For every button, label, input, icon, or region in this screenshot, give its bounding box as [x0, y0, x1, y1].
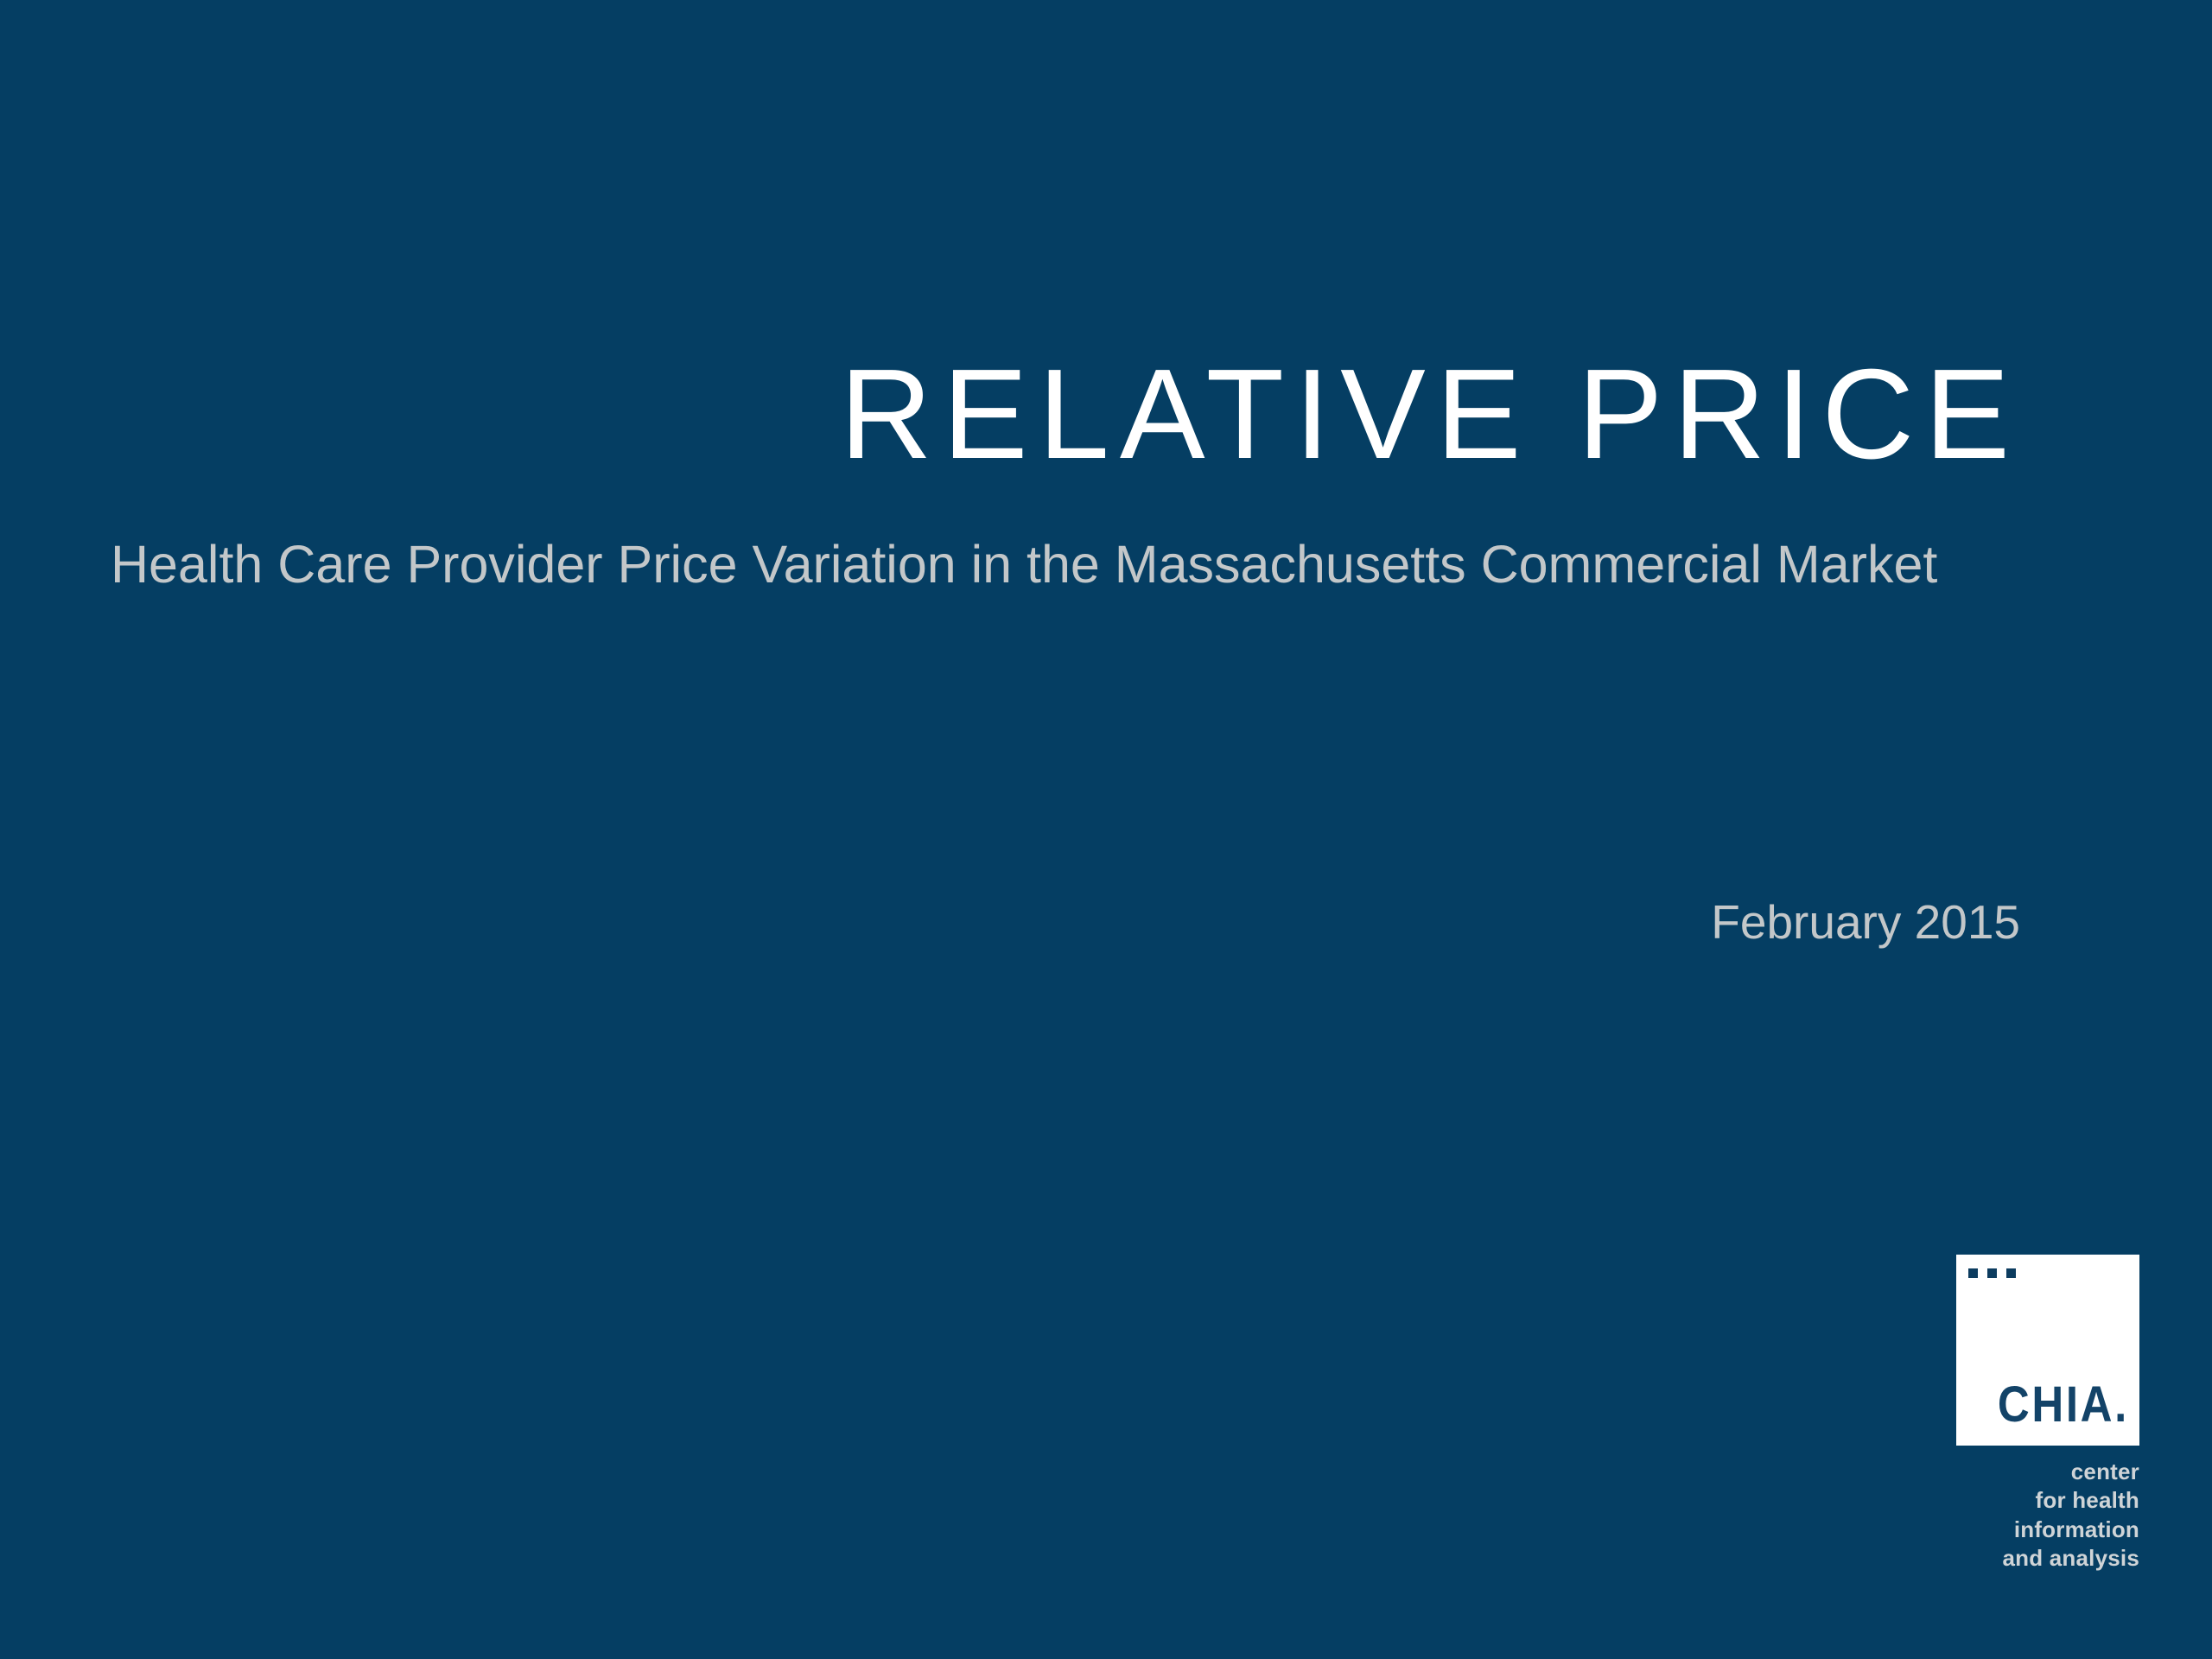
- tagline-line: for health: [1956, 1486, 2139, 1515]
- chia-logo-lockup: CHIA. center for health information and …: [1956, 1255, 2139, 1573]
- square-dot-icon: [1968, 1268, 1978, 1278]
- headline-block: RELATIVE PRICE Health Care Provider Pric…: [111, 346, 2020, 596]
- square-dot-icon: [1987, 1268, 1997, 1278]
- chia-wordmark: CHIA.: [1977, 1380, 2129, 1430]
- chia-logo-mark: CHIA.: [1956, 1255, 2139, 1446]
- tagline-line: and analysis: [1956, 1544, 2139, 1573]
- square-dot-icon: [2006, 1268, 2016, 1278]
- tagline-line: information: [1956, 1516, 2139, 1544]
- page-title: RELATIVE PRICE: [111, 346, 2020, 484]
- title-slide: RELATIVE PRICE Health Care Provider Pric…: [0, 0, 2212, 1659]
- chia-tagline: center for health information and analys…: [1956, 1446, 2139, 1573]
- logo-dots-group: [1968, 1268, 2016, 1278]
- tagline-line: center: [1956, 1458, 2139, 1486]
- slide-subtitle: Health Care Provider Price Variation in …: [111, 484, 2020, 596]
- slide-date: February 2015: [1711, 896, 2020, 949]
